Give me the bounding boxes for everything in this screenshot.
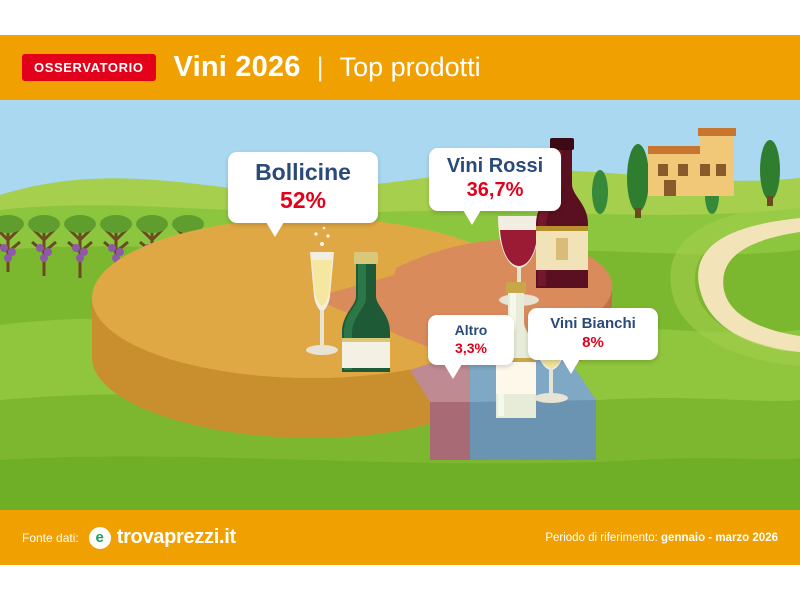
slice-side-altro bbox=[430, 400, 470, 460]
foreground-field-3 bbox=[0, 457, 800, 510]
callout-altro-label: Altro bbox=[442, 323, 500, 338]
leaf-icon: e bbox=[89, 527, 111, 549]
callout-tail bbox=[562, 359, 580, 374]
callout-altro-value: 3,3% bbox=[442, 340, 500, 356]
callout-bollicine-label: Bollicine bbox=[242, 160, 364, 184]
callout-vini-rossi-value: 36,7% bbox=[443, 179, 547, 202]
callout-tail bbox=[266, 222, 284, 237]
infographic-root: OSSERVATORIO Vini 2026 | Top prodotti bbox=[0, 0, 800, 600]
page-title: Vini 2026 bbox=[174, 51, 301, 84]
footer-bar: Fonte dati: e trovaprezzi.it Periodo di … bbox=[0, 510, 800, 565]
callout-vini-bianchi-label: Vini Bianchi bbox=[542, 316, 644, 332]
callout-tail bbox=[444, 364, 462, 379]
header-bar: OSSERVATORIO Vini 2026 | Top prodotti bbox=[0, 35, 800, 100]
period-group: Periodo di riferimento: gennaio - marzo … bbox=[545, 532, 778, 544]
source-group: Fonte dati: e trovaprezzi.it bbox=[22, 526, 236, 549]
callout-altro: Altro 3,3% bbox=[428, 315, 514, 365]
callout-tail bbox=[463, 210, 481, 225]
period-label: Periodo di riferimento: bbox=[545, 532, 658, 544]
callout-vini-rossi: Vini Rossi 36,7% bbox=[429, 148, 561, 211]
period-value: gennaio - marzo 2026 bbox=[661, 532, 778, 544]
callout-bollicine-value: 52% bbox=[242, 187, 364, 213]
callout-vini-rossi-label: Vini Rossi bbox=[443, 156, 547, 177]
scene-svg bbox=[0, 100, 800, 510]
source-label: Fonte dati: bbox=[22, 531, 79, 545]
callout-vini-bianchi-value: 8% bbox=[542, 334, 644, 351]
illustration-scene: Bollicine 52% Vini Rossi 36,7% Altro 3,3… bbox=[0, 100, 800, 510]
page-subtitle: Top prodotti bbox=[340, 52, 481, 83]
observatory-badge: OSSERVATORIO bbox=[22, 54, 156, 81]
trovaprezzi-logo-text: trovaprezzi.it bbox=[117, 526, 236, 549]
title-separator: | bbox=[317, 52, 324, 83]
callout-bollicine: Bollicine 52% bbox=[228, 152, 378, 223]
callout-vini-bianchi: Vini Bianchi 8% bbox=[528, 308, 658, 360]
